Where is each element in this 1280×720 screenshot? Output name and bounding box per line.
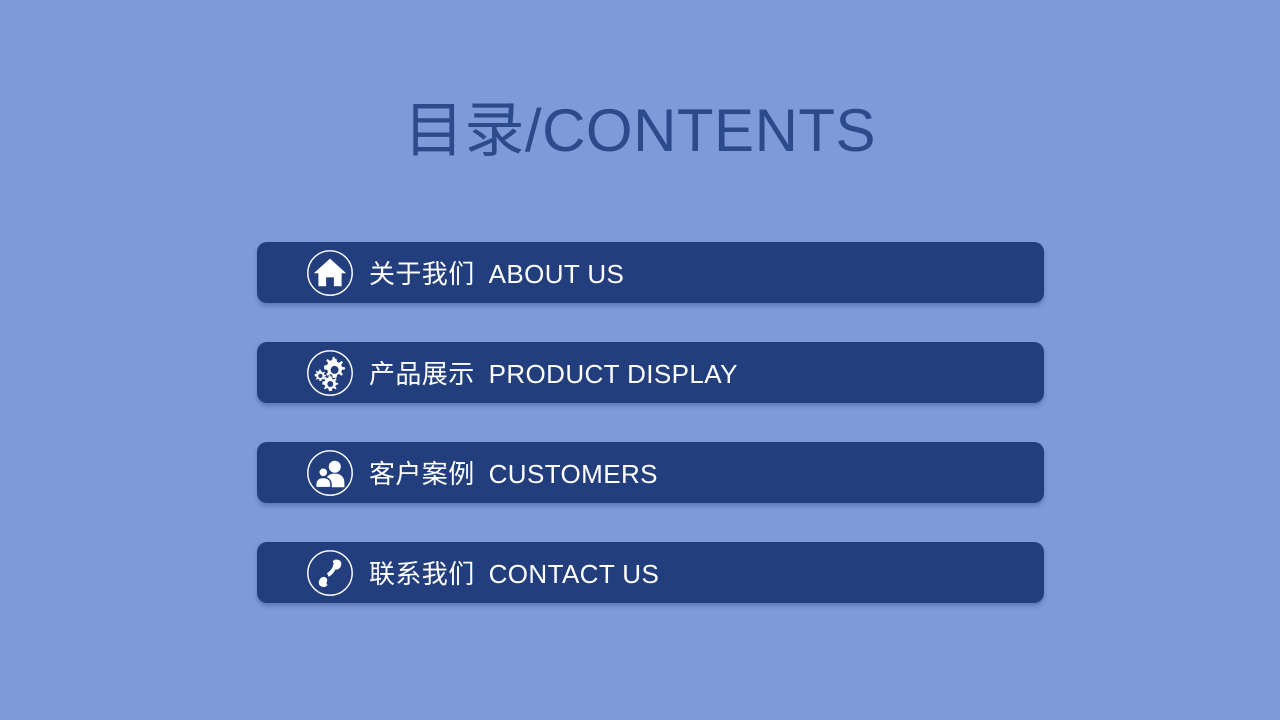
contents-item-label: 关于我们ABOUT US (369, 254, 624, 291)
contents-item-label-cn: 产品展示 (369, 359, 475, 389)
contents-item-label-en: CUSTOMERS (489, 459, 658, 489)
contents-item-label: 产品展示PRODUCT DISPLAY (369, 354, 738, 391)
contents-item-label: 客户案例CUSTOMERS (369, 454, 658, 491)
contents-item-label-en: PRODUCT DISPLAY (489, 359, 738, 389)
contents-item-about-us[interactable]: 关于我们ABOUT US (257, 242, 1044, 303)
contents-item-label-en: ABOUT US (489, 259, 625, 289)
contents-item-label: 联系我们CONTACT US (369, 554, 659, 591)
home-icon (306, 249, 354, 297)
phone-icon (306, 549, 354, 597)
contents-item-label-cn: 关于我们 (369, 259, 475, 289)
page-title: 目录/CONTENTS (0, 98, 1280, 164)
contents-list: 关于我们ABOUT US 产品展示PRODU (257, 242, 1044, 603)
contents-item-customers[interactable]: 客户案例CUSTOMERS (257, 442, 1044, 503)
people-icon (306, 449, 354, 497)
contents-item-product-display[interactable]: 产品展示PRODUCT DISPLAY (257, 342, 1044, 403)
slide-canvas: 目录/CONTENTS 关于我们ABOUT US (0, 0, 1280, 720)
contents-item-label-en: CONTACT US (489, 559, 660, 589)
contents-item-contact-us[interactable]: 联系我们CONTACT US (257, 542, 1044, 603)
contents-item-label-cn: 联系我们 (369, 559, 475, 589)
contents-item-label-cn: 客户案例 (369, 459, 475, 489)
gears-icon (306, 349, 354, 397)
